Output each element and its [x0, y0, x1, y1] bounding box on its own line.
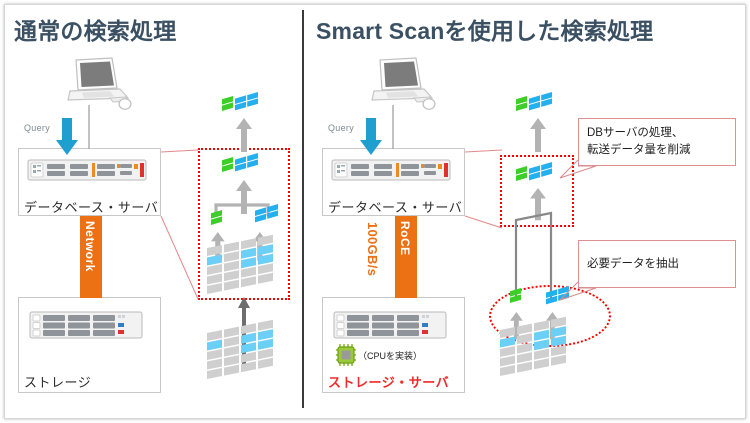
left-highlight-region — [198, 148, 290, 300]
left-panel-title: 通常の検索処理 — [14, 12, 176, 46]
callout-db-reduction: DBサーバの処理、 転送データ量を削減 — [578, 118, 736, 166]
right-highlight-ellipse — [489, 285, 611, 347]
left-network-bar: Network — [80, 216, 102, 298]
right-link-speed-label: 100GB/s — [365, 222, 380, 276]
right-storage-label: ストレージ・サーバ — [328, 372, 449, 391]
panel-divider — [302, 10, 304, 408]
right-roce-bar-label: RoCE — [398, 221, 412, 256]
callout-extract-data-line1: 必要データを抽出 — [587, 256, 679, 273]
right-roce-bar: RoCE — [395, 216, 417, 298]
right-query-label: Query — [328, 123, 354, 133]
right-highlight-region — [500, 155, 574, 227]
left-network-bar-label: Network — [83, 221, 97, 272]
cpu-note-label: （CPUを実装） — [358, 349, 422, 362]
diagram-canvas: 通常の検索処理 Smart Scanを使用した検索処理 データベース・サーバ ス… — [0, 0, 750, 423]
callout-db-reduction-line2: 転送データ量を削減 — [587, 142, 727, 159]
left-storage-label: ストレージ — [24, 372, 91, 391]
callout-extract-data: 必要データを抽出 — [578, 240, 736, 288]
left-db-server-label: データベース・サーバ — [24, 197, 158, 216]
left-query-label: Query — [24, 123, 50, 133]
callout-db-reduction-line1: DBサーバの処理、 — [587, 125, 727, 142]
right-db-server-label: データベース・サーバ — [328, 197, 462, 216]
right-panel-title: Smart Scanを使用した検索処理 — [316, 12, 653, 46]
